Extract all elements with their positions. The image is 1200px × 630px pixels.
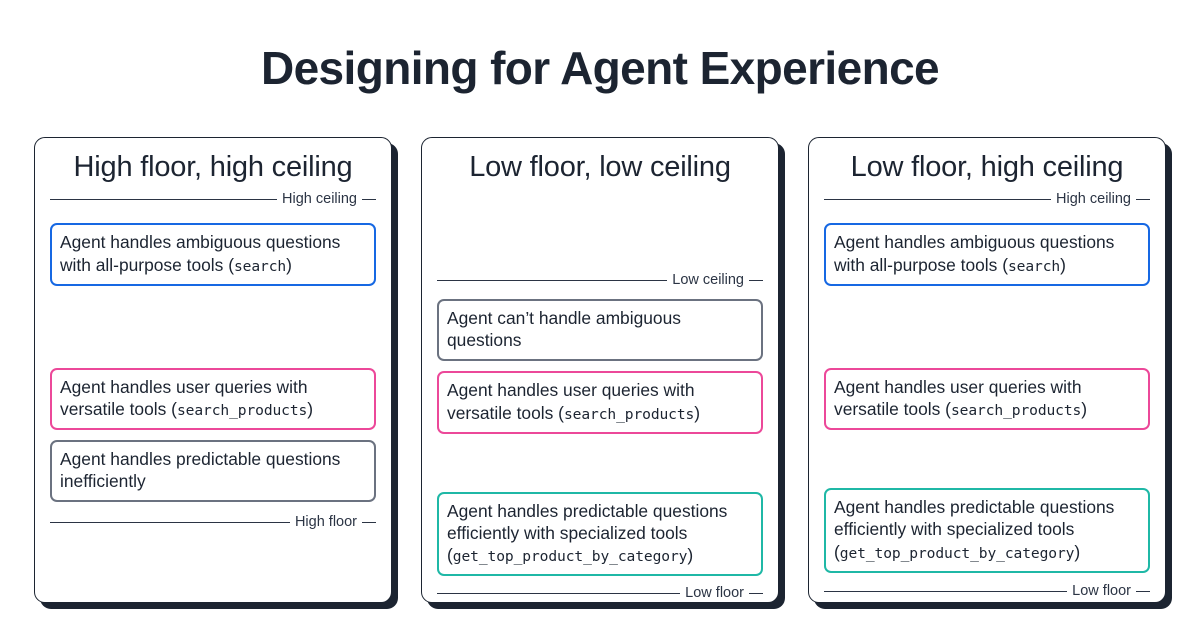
statement-text: Agent handles predictable questions inef… <box>60 449 340 491</box>
card-low-floor-low-ceiling: Low floor, low ceiling Low ceiling Agent… <box>421 137 779 603</box>
ceiling-divider-label: High ceiling <box>1056 192 1131 207</box>
divider-rule <box>50 199 277 200</box>
statement-tail: ) <box>1081 399 1087 419</box>
card-spacer-upper <box>50 286 376 368</box>
floor-divider: Low floor <box>824 582 1150 602</box>
divider-rule-end <box>362 522 376 523</box>
card-high-floor-high-ceiling: High floor, high ceiling High ceiling Ag… <box>34 137 392 603</box>
tool-name-code: search <box>234 258 286 275</box>
divider-rule-end <box>362 199 376 200</box>
card-spacer-mid <box>824 430 1150 488</box>
statement-box-predictable: Agent handles predictable questions inef… <box>50 440 376 502</box>
divider-rule <box>437 280 667 281</box>
ceiling-divider: High ceiling <box>50 189 376 209</box>
card-spacer-lower <box>50 532 376 602</box>
statement-box-ambiguous: Agent handles ambiguous questions with a… <box>824 223 1150 285</box>
divider-rule <box>824 199 1051 200</box>
statement-text: Agent handles ambiguous questions with a… <box>834 232 1114 274</box>
card-low-floor-high-ceiling: Low floor, high ceiling High ceiling Age… <box>808 137 1166 603</box>
statement-box-predictable: Agent handles predictable questions effi… <box>437 492 763 577</box>
statement-box-predictable: Agent handles predictable questions effi… <box>824 488 1150 573</box>
card-spacer-upper <box>824 286 1150 368</box>
card-spacer-mid <box>437 434 763 492</box>
card-title: Low floor, low ceiling <box>437 149 763 185</box>
infographic-page: Designing for Agent Experience High floo… <box>0 0 1200 630</box>
ceiling-divider-label: Low ceiling <box>672 273 744 288</box>
divider-rule <box>50 522 290 523</box>
floor-divider-label: Low floor <box>1072 584 1131 599</box>
tool-name-code: search_products <box>177 402 307 419</box>
tool-name-code: search <box>1008 258 1060 275</box>
card-spacer-lower <box>824 602 1150 603</box>
statement-text: Agent handles ambiguous questions with a… <box>60 232 340 274</box>
divider-rule-end <box>749 280 763 281</box>
statement-text: Agent can’t handle ambiguous questions <box>447 308 681 350</box>
floor-divider-label: High floor <box>295 515 357 530</box>
page-title: Designing for Agent Experience <box>0 41 1200 96</box>
card-title: Low floor, high ceiling <box>824 149 1150 185</box>
divider-rule <box>824 591 1067 592</box>
statement-tail: ) <box>687 545 693 565</box>
divider-rule-end <box>1136 199 1150 200</box>
statement-box-versatile: Agent handles user queries with versatil… <box>437 371 763 433</box>
divider-rule <box>437 593 680 594</box>
tool-name-code: get_top_product_by_category <box>453 548 688 565</box>
divider-rule-end <box>1136 591 1150 592</box>
statement-box-versatile: Agent handles user queries with versatil… <box>50 368 376 430</box>
ceiling-divider: High ceiling <box>824 189 1150 209</box>
card-title: High floor, high ceiling <box>50 149 376 185</box>
tool-name-code: get_top_product_by_category <box>840 545 1075 562</box>
ceiling-divider: Low ceiling <box>437 272 763 289</box>
divider-rule-end <box>749 593 763 594</box>
statement-tail: ) <box>1074 542 1080 562</box>
floor-divider: High floor <box>50 512 376 532</box>
floor-divider: Low floor <box>437 585 763 602</box>
statement-box-ambiguous: Agent can’t handle ambiguous questions <box>437 299 763 361</box>
card-row: High floor, high ceiling High ceiling Ag… <box>34 137 1166 611</box>
floor-divider-label: Low floor <box>685 586 744 601</box>
card-spacer-upper <box>437 185 763 272</box>
tool-name-code: search_products <box>564 406 694 423</box>
ceiling-divider-label: High ceiling <box>282 192 357 207</box>
statement-tail: ) <box>286 255 292 275</box>
statement-tail: ) <box>307 399 313 419</box>
statement-box-versatile: Agent handles user queries with versatil… <box>824 368 1150 430</box>
statement-tail: ) <box>1060 255 1066 275</box>
statement-box-ambiguous: Agent handles ambiguous questions with a… <box>50 223 376 285</box>
statement-tail: ) <box>694 403 700 423</box>
tool-name-code: search_products <box>951 402 1081 419</box>
